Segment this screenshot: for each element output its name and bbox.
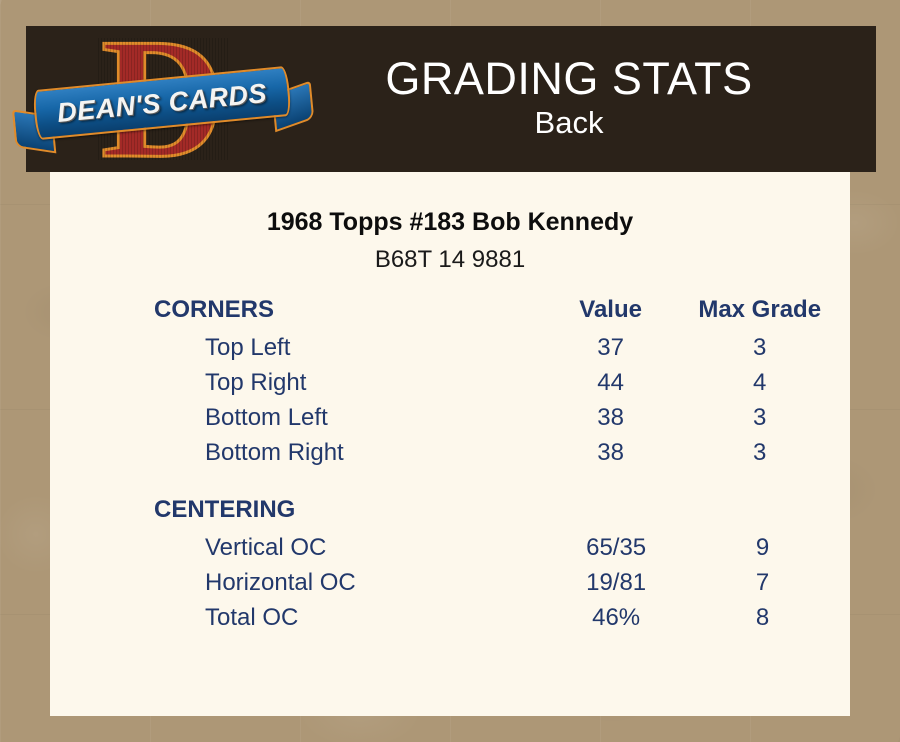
table-row: Total OC 46% 8: [150, 600, 830, 635]
row-value: 38: [532, 435, 689, 470]
row-value: 65/35: [537, 530, 695, 565]
centering-table: CENTERING Vertical OC 65/35 9 Horizontal…: [150, 470, 830, 635]
row-value: 38: [532, 400, 689, 435]
row-value: 46%: [537, 600, 695, 635]
row-label: Total OC: [150, 600, 537, 635]
table-row: Top Left 37 3: [150, 330, 830, 365]
row-value: 44: [532, 365, 689, 400]
page-title: GRADING STATS: [296, 55, 842, 102]
section-heading-corners: CORNERS: [150, 274, 532, 330]
section-heading-centering: CENTERING: [150, 470, 537, 530]
row-value: 19/81: [537, 565, 695, 600]
row-max-grade: 3: [689, 435, 830, 470]
row-label: Bottom Right: [150, 435, 532, 470]
table-row: Vertical OC 65/35 9: [150, 530, 830, 565]
section-heading-spacer-grade: [695, 470, 830, 530]
section-heading-spacer-value: [537, 470, 695, 530]
column-header-value: Value: [532, 274, 689, 330]
row-label: Top Left: [150, 330, 532, 365]
column-header-max-grade: Max Grade: [689, 274, 830, 330]
row-max-grade: 8: [695, 600, 830, 635]
row-label: Top Right: [150, 365, 532, 400]
row-label: Bottom Left: [150, 400, 532, 435]
card-serial-number: B68T 14 9881: [50, 246, 850, 274]
stats-panel: 1968 Topps #183 Bob Kennedy B68T 14 9881…: [50, 172, 850, 716]
row-label: Vertical OC: [150, 530, 537, 565]
row-max-grade: 9: [695, 530, 830, 565]
deans-cards-logo[interactable]: D DEAN'S CARDS: [26, 26, 296, 172]
table-row: Top Right 44 4: [150, 365, 830, 400]
row-max-grade: 7: [695, 565, 830, 600]
row-max-grade: 3: [689, 330, 830, 365]
row-max-grade: 4: [689, 365, 830, 400]
table-header-row: CORNERS Value Max Grade: [150, 274, 830, 330]
section-heading-row: CENTERING: [150, 470, 830, 530]
row-value: 37: [532, 330, 689, 365]
table-row: Bottom Left 38 3: [150, 400, 830, 435]
table-row: Horizontal OC 19/81 7: [150, 565, 830, 600]
corners-table: CORNERS Value Max Grade Top Left 37 3 To…: [150, 274, 830, 470]
header-titles: GRADING STATS Back: [296, 55, 876, 143]
header-band: D DEAN'S CARDS GRADING STATS Back: [26, 26, 876, 172]
row-max-grade: 3: [689, 400, 830, 435]
page-subtitle: Back: [296, 104, 842, 143]
row-label: Horizontal OC: [150, 565, 537, 600]
table-row: Bottom Right 38 3: [150, 435, 830, 470]
